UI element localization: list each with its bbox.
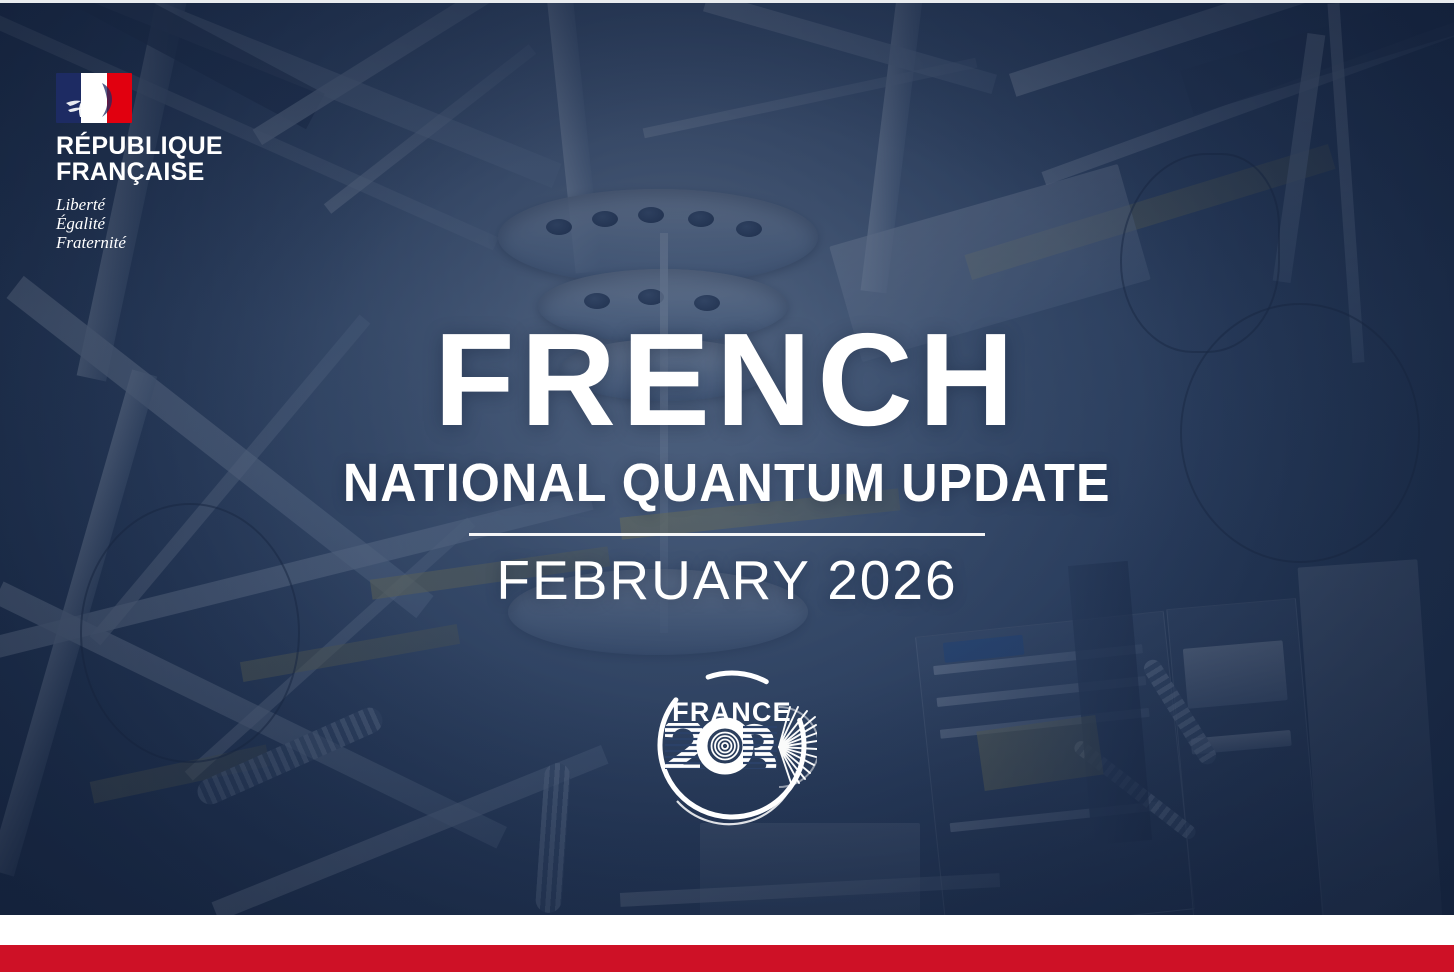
france-2030-mark-icon: FRANCE	[647, 659, 817, 831]
republic-title-line1: RÉPUBLIQUE	[56, 133, 256, 159]
title-slide: RÉPUBLIQUE FRANÇAISE Liberté Égalité Fra…	[0, 0, 1454, 972]
motto-liberte: Liberté	[56, 195, 256, 214]
republic-motto: Liberté Égalité Fraternité	[56, 195, 256, 252]
footer-red-band	[0, 945, 1454, 972]
republic-title: RÉPUBLIQUE FRANÇAISE	[56, 133, 256, 185]
hero-background: RÉPUBLIQUE FRANÇAISE Liberté Égalité Fra…	[0, 0, 1454, 915]
republic-title-line2: FRANÇAISE	[56, 159, 256, 185]
french-flag-icon	[56, 73, 132, 123]
footer-white-band	[0, 915, 1454, 945]
motto-fraternite: Fraternité	[56, 233, 256, 252]
motto-egalite: Égalité	[56, 214, 256, 233]
marianne-silhouette-icon	[62, 77, 126, 119]
republique-francaise-logo: RÉPUBLIQUE FRANÇAISE Liberté Égalité Fra…	[56, 73, 256, 252]
france-2030-logo: FRANCE	[647, 659, 817, 831]
